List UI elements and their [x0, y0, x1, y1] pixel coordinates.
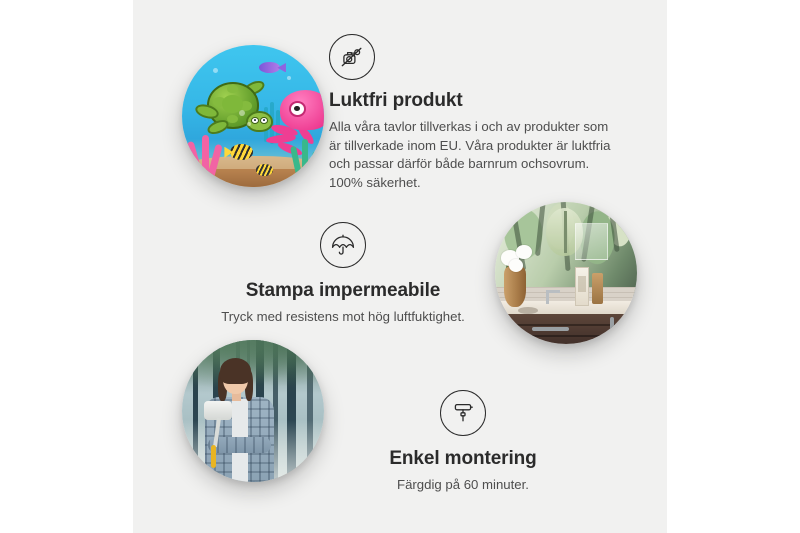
feature-odorless-description: Alla våra tavlor tillverkas i och av pro…	[329, 118, 617, 193]
product-image-sea[interactable]	[182, 45, 324, 187]
feature-odorless: Luktfri produkt Alla våra tavlor tillver…	[329, 34, 629, 193]
vase	[504, 267, 527, 307]
product-image-forest[interactable]	[182, 340, 324, 482]
feature-odorless-title: Luktfri produkt	[329, 90, 629, 112]
flower-icon	[516, 245, 532, 259]
forest-artwork	[182, 340, 324, 482]
product-image-bathroom[interactable]	[495, 202, 637, 344]
vanity-cabinet	[495, 314, 637, 344]
feature-assembly-description: Färgdig på 60 minuter.	[329, 476, 597, 495]
soap-dispenser	[592, 273, 603, 304]
umbrella-icon	[320, 222, 366, 268]
bubble-icon	[213, 68, 218, 73]
octopus-eye	[289, 101, 306, 117]
fish-icon	[230, 144, 253, 160]
cabinet-seam	[495, 324, 637, 326]
cabinet-seam	[495, 335, 637, 337]
bathroom-artwork	[495, 202, 637, 344]
coral-icon	[185, 133, 228, 181]
woman-figure	[202, 363, 284, 482]
octopus-head	[280, 90, 324, 130]
cabinet-handle	[532, 327, 569, 331]
leaf-stem	[608, 202, 621, 253]
flower-icon	[509, 259, 523, 272]
no-odour-perfume-icon	[329, 34, 375, 80]
leaf-stem	[535, 202, 546, 256]
feature-assembly-icon-wrap	[329, 390, 597, 436]
coral-icon	[287, 136, 318, 176]
feature-assembly: Enkel montering Färgdig på 60 minuter.	[329, 390, 597, 495]
cabinet-handle	[610, 317, 614, 341]
turtle-icon	[193, 79, 270, 136]
fish-icon	[256, 164, 273, 175]
screenshot-root: Luktfri produkt Alla våra tavlor tillver…	[0, 0, 800, 533]
soap-dish	[518, 307, 538, 314]
paint-roller-icon	[440, 390, 486, 436]
feature-waterproof-title: Stampa impermeabile	[193, 280, 493, 302]
toiletry-bottle	[575, 267, 590, 306]
hair	[220, 358, 251, 384]
faucet-icon	[546, 290, 549, 304]
feature-waterproof: Stampa impermeabile Tryck med resistens …	[193, 222, 493, 327]
roller-grip	[211, 445, 215, 468]
feature-odorless-icon-wrap	[329, 34, 629, 80]
sea-artwork	[182, 45, 324, 187]
feature-waterproof-description: Tryck med resistens mot hög luftfuktighe…	[193, 308, 493, 327]
feature-waterproof-icon-wrap	[193, 222, 493, 268]
turtle-eye	[260, 117, 268, 124]
turtle-eye	[251, 117, 259, 124]
paint-roller-held	[204, 401, 232, 420]
feature-assembly-title: Enkel montering	[329, 448, 597, 470]
bathroom-mirror	[575, 223, 608, 261]
feature-panel: Luktfri produkt Alla våra tavlor tillver…	[133, 0, 667, 533]
